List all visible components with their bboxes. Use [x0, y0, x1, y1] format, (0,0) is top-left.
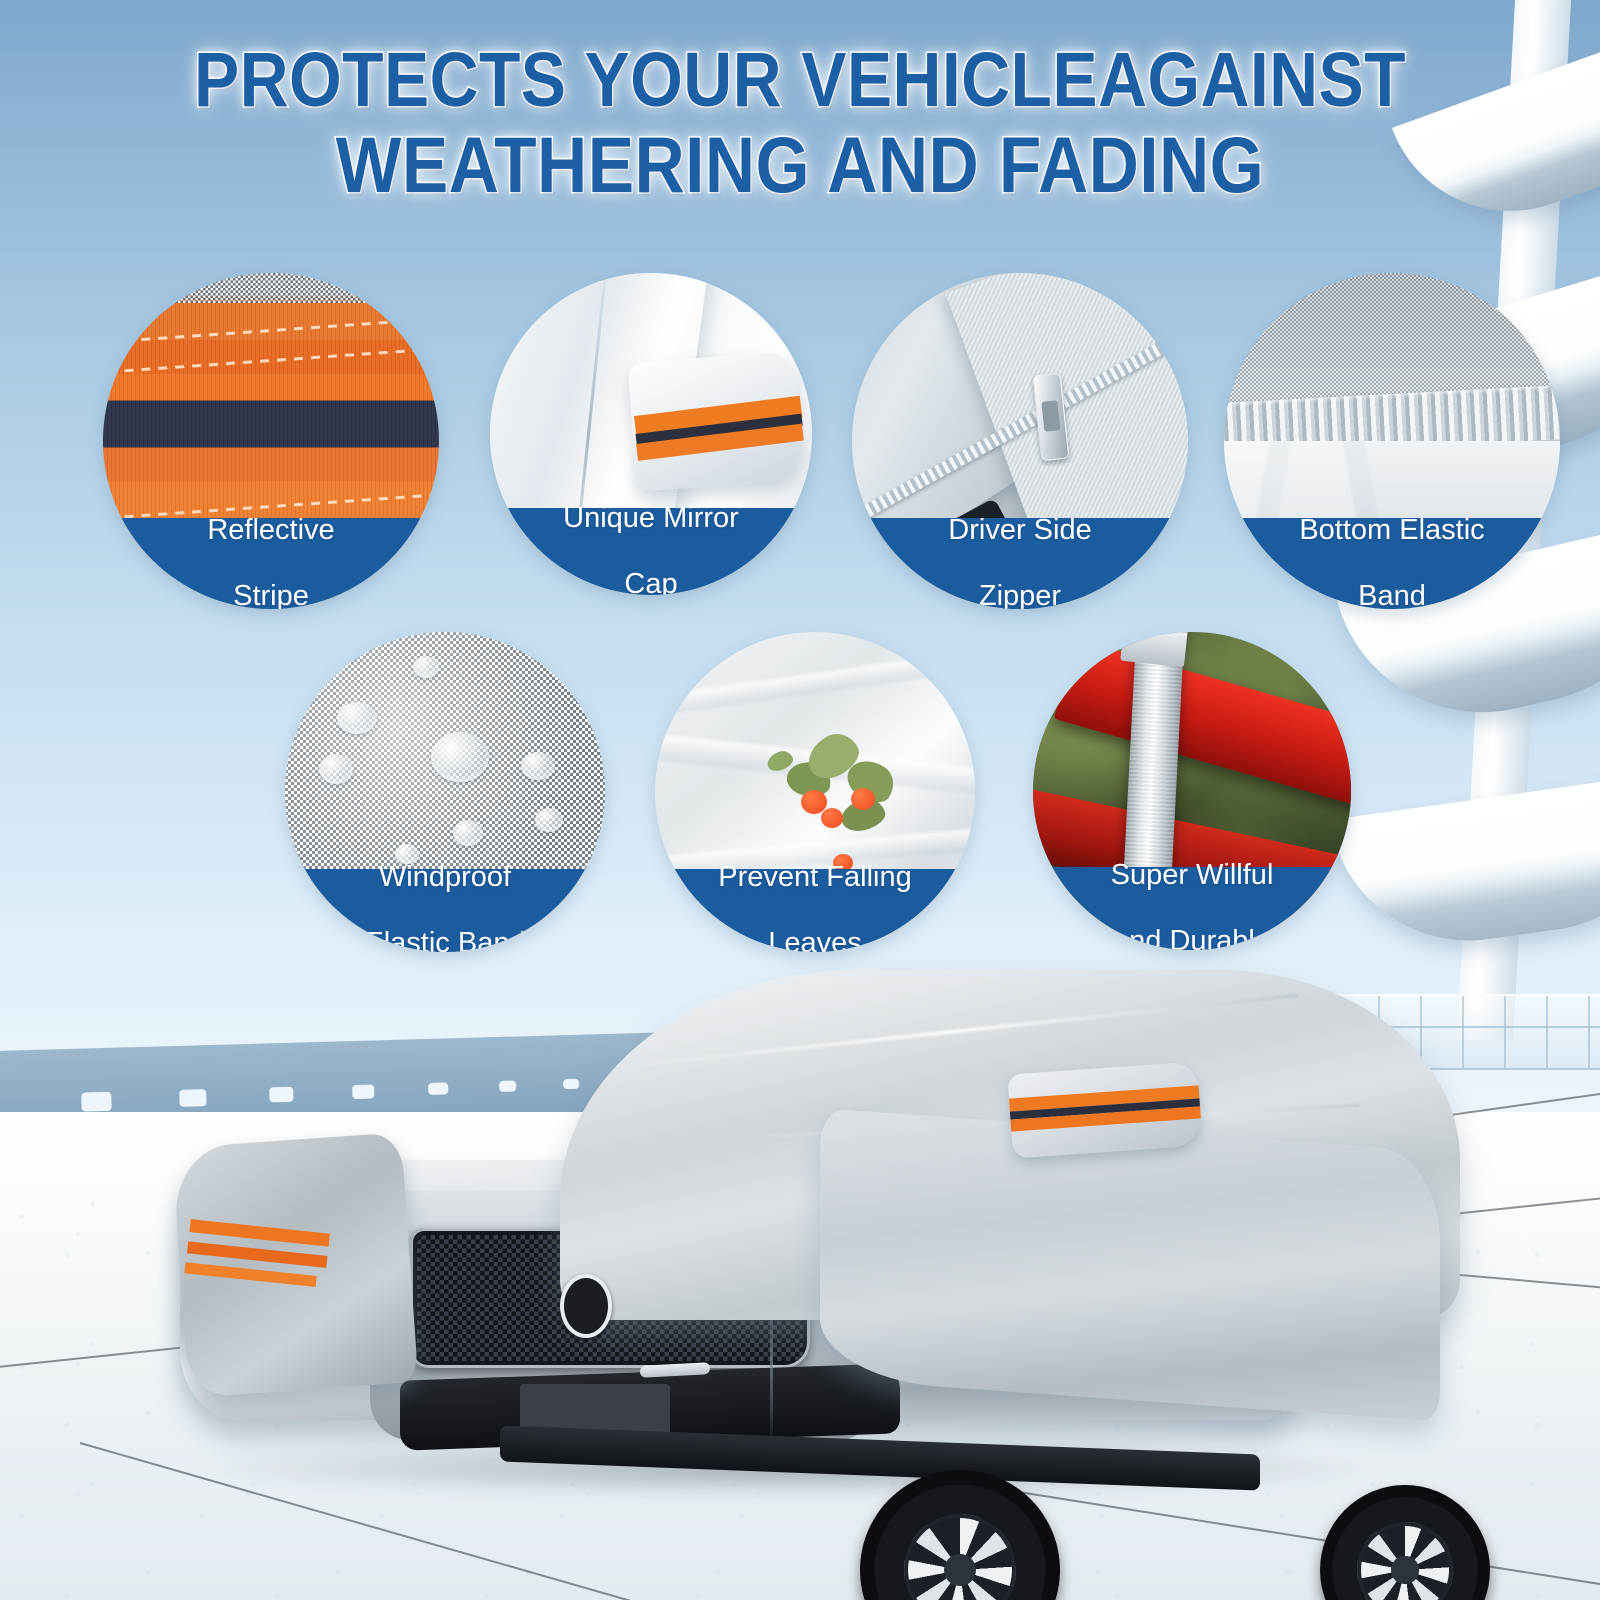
feature-label: WindproofElastic Band	[348, 861, 541, 952]
feature-label-band: WindproofElastic Band	[285, 869, 605, 952]
feature-grid: ReflectiveStripe Unique MirrorCap	[0, 0, 1600, 1600]
feature-label-band: Prevent FallingLeaves	[655, 869, 975, 952]
water-droplet	[453, 820, 483, 846]
feature-label: Prevent FallingLeaves	[702, 861, 927, 952]
feature-card-bottom-elastic-band[interactable]: Bottom ElasticBand	[1224, 273, 1560, 609]
feature-card-prevent-falling-leaves[interactable]: Prevent FallingLeaves	[655, 632, 975, 952]
feature-label: Unique MirrorCap	[547, 502, 755, 595]
water-droplet	[319, 754, 353, 784]
feature-label: Driver SideZipper	[932, 514, 1107, 609]
feature-label: ReflectiveStripe	[191, 514, 350, 609]
water-droplet	[413, 656, 439, 678]
feature-card-driver-side-zipper[interactable]: Driver SideZipper	[852, 273, 1188, 609]
water-droplet	[337, 702, 377, 734]
feature-card-reflective-stripe[interactable]: ReflectiveStripe	[103, 273, 439, 609]
infographic-canvas: PROTECTS YOUR VEHICLEAGAINST WEATHERING …	[0, 0, 1600, 1600]
feature-card-windproof-elastic-band[interactable]: WindproofElastic Band	[285, 632, 605, 952]
feature-label-band: Driver SideZipper	[852, 518, 1188, 609]
feature-label-band: Super Willfuland Durable	[1033, 867, 1351, 950]
feature-label-band: Bottom ElasticBand	[1224, 518, 1560, 609]
berry	[851, 788, 875, 810]
feature-card-super-willful-and-durable[interactable]: Super Willfuland Durable	[1033, 632, 1351, 950]
berry	[821, 808, 843, 828]
strap-fold-cap	[1120, 632, 1187, 667]
feature-label-band: ReflectiveStripe	[103, 518, 439, 609]
feature-label: Bottom ElasticBand	[1283, 514, 1500, 609]
water-droplet	[535, 808, 563, 832]
mesh-edge-top	[103, 273, 439, 303]
water-droplet	[431, 732, 489, 782]
fabric-wave	[655, 647, 975, 717]
feature-label: Super Willfuland Durable	[1095, 859, 1290, 950]
mirror-cap-pocket	[627, 351, 803, 491]
water-droplet	[521, 752, 555, 780]
feature-card-unique-mirror-cap[interactable]: Unique MirrorCap	[490, 273, 812, 595]
feature-label-band: Unique MirrorCap	[490, 508, 812, 595]
